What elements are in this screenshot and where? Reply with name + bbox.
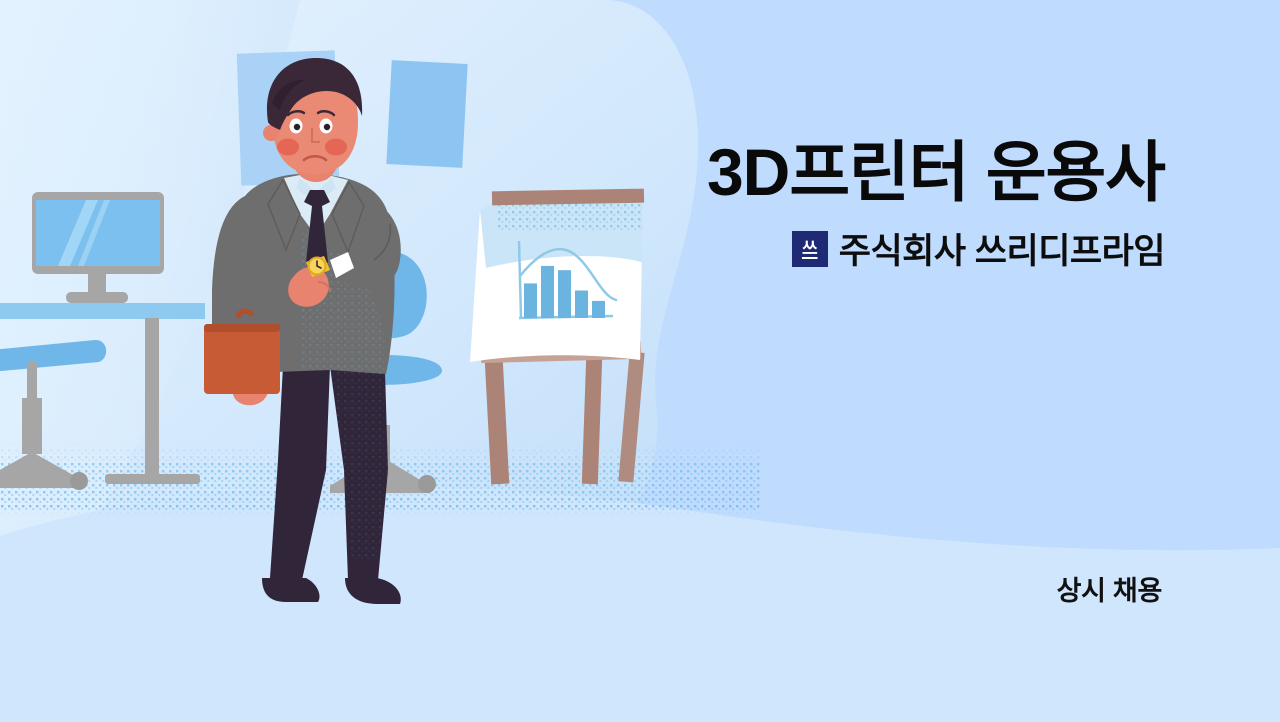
wall-poster-small bbox=[386, 60, 467, 168]
page-title: 3D프린터 운용사 bbox=[505, 138, 1165, 207]
chair-left-post bbox=[27, 362, 37, 398]
office-illustration bbox=[0, 0, 1280, 722]
pupil-right bbox=[324, 124, 330, 130]
briefcase-lip bbox=[204, 324, 280, 332]
chart-bar bbox=[575, 291, 588, 319]
monitor-base bbox=[66, 292, 128, 303]
desk-top bbox=[0, 303, 205, 319]
chair-left-seat bbox=[0, 340, 106, 373]
company-row: 쓰 주식회사 쓰리디프라임 bbox=[505, 223, 1165, 274]
job-posting-banner: 3D프린터 운용사 쓰 주식회사 쓰리디프라임 상시 채용 bbox=[0, 0, 1280, 722]
chart-bar bbox=[524, 283, 537, 318]
chair-right-wheel bbox=[418, 475, 436, 493]
pupil-left bbox=[294, 124, 300, 130]
company-logo-glyph: 쓰 bbox=[802, 240, 818, 257]
cheek-right bbox=[325, 139, 347, 156]
monitor bbox=[32, 192, 164, 303]
company-logo-badge: 쓰 bbox=[792, 231, 828, 267]
status-badge: 상시 채용 bbox=[1057, 569, 1162, 608]
monitor-screen bbox=[36, 200, 160, 266]
company-name: 주식회사 쓰리디프라임 bbox=[839, 223, 1165, 274]
chair-left-cylinder bbox=[22, 398, 42, 454]
chair-left-wheel bbox=[70, 472, 88, 490]
desk-foot bbox=[105, 474, 200, 484]
briefcase-body bbox=[204, 324, 280, 394]
cheek-left bbox=[277, 139, 299, 156]
job-text-block: 3D프린터 운용사 쓰 주식회사 쓰리디프라임 bbox=[505, 138, 1165, 274]
chart-bar bbox=[558, 270, 571, 318]
chart-bar bbox=[592, 301, 605, 318]
desk-leg-column bbox=[145, 318, 159, 478]
